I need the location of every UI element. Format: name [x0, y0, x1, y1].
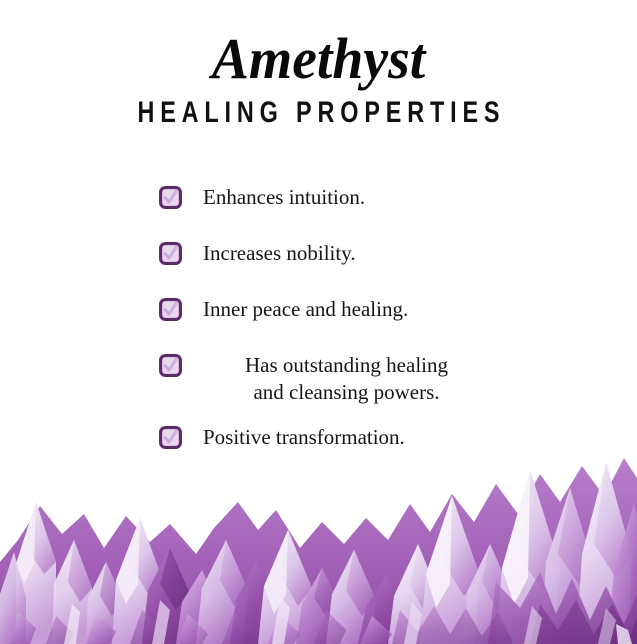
- page-title: Amethyst: [13, 0, 625, 91]
- list-item-label: Increases nobility.: [203, 240, 637, 267]
- title-block: Amethyst HEALING PROPERTIES: [0, 0, 637, 128]
- list-item-label: Enhances intuition.: [203, 184, 637, 211]
- checkbox-checked-icon: [159, 298, 182, 321]
- list-item: Inner peace and healing.: [0, 296, 637, 326]
- page-subtitle: HEALING PROPERTIES: [70, 91, 567, 129]
- list-item: Has outstanding healing and cleansing po…: [0, 352, 637, 406]
- checkbox-checked-icon: [159, 186, 182, 209]
- list-item: Enhances intuition.: [0, 184, 637, 214]
- list-item-label: Has outstanding healing and cleansing po…: [196, 352, 637, 406]
- benefits-list: Enhances intuition. Increases nobility. …: [0, 178, 637, 454]
- list-item-label: Inner peace and healing.: [203, 296, 637, 323]
- amethyst-healing-properties-poster: Amethyst HEALING PROPERTIES Enhances int…: [0, 0, 637, 644]
- checkbox-checked-icon: [159, 354, 182, 377]
- checkbox-checked-icon: [159, 242, 182, 265]
- amethyst-crystal-image: [0, 444, 637, 644]
- list-item: Increases nobility.: [0, 240, 637, 270]
